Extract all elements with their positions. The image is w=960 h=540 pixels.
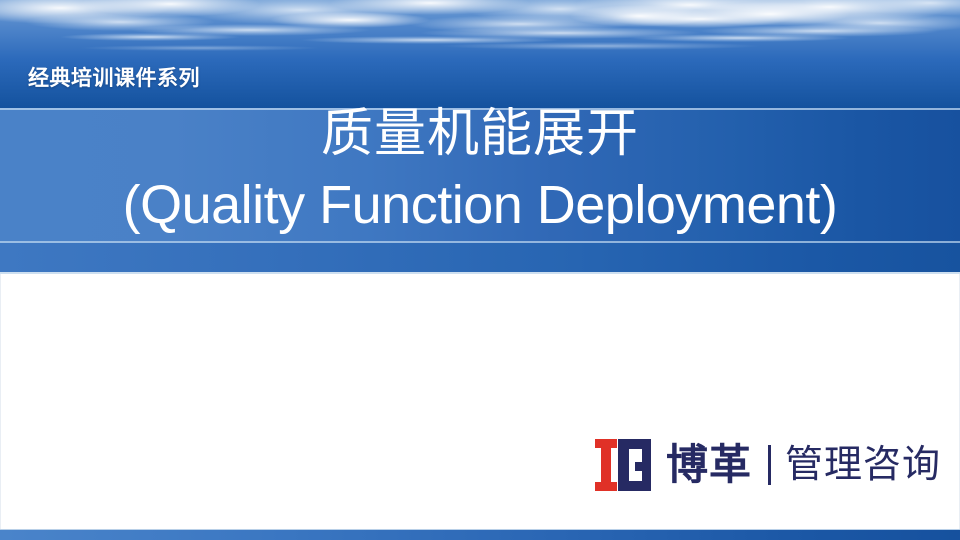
logo-divider [768,445,771,485]
logo-tagline: 管理咨询 [785,446,941,484]
presentation-slide: 经典培训课件系列 质量机能展开 (Quality Function Deploy… [0,0,960,540]
lower-accent-band [0,243,960,272]
logo-wordmark: 博革 [666,444,752,486]
bottom-accent-bar [0,530,960,540]
slide-title-chinese: 质量机能展开 [0,103,960,165]
bg-monogram-icon [592,437,654,493]
slide-title-english: (Quality Function Deployment) [0,173,960,237]
company-logo: 博革 管理咨询 [592,434,941,496]
series-kicker-label: 经典培训课件系列 [28,62,200,92]
